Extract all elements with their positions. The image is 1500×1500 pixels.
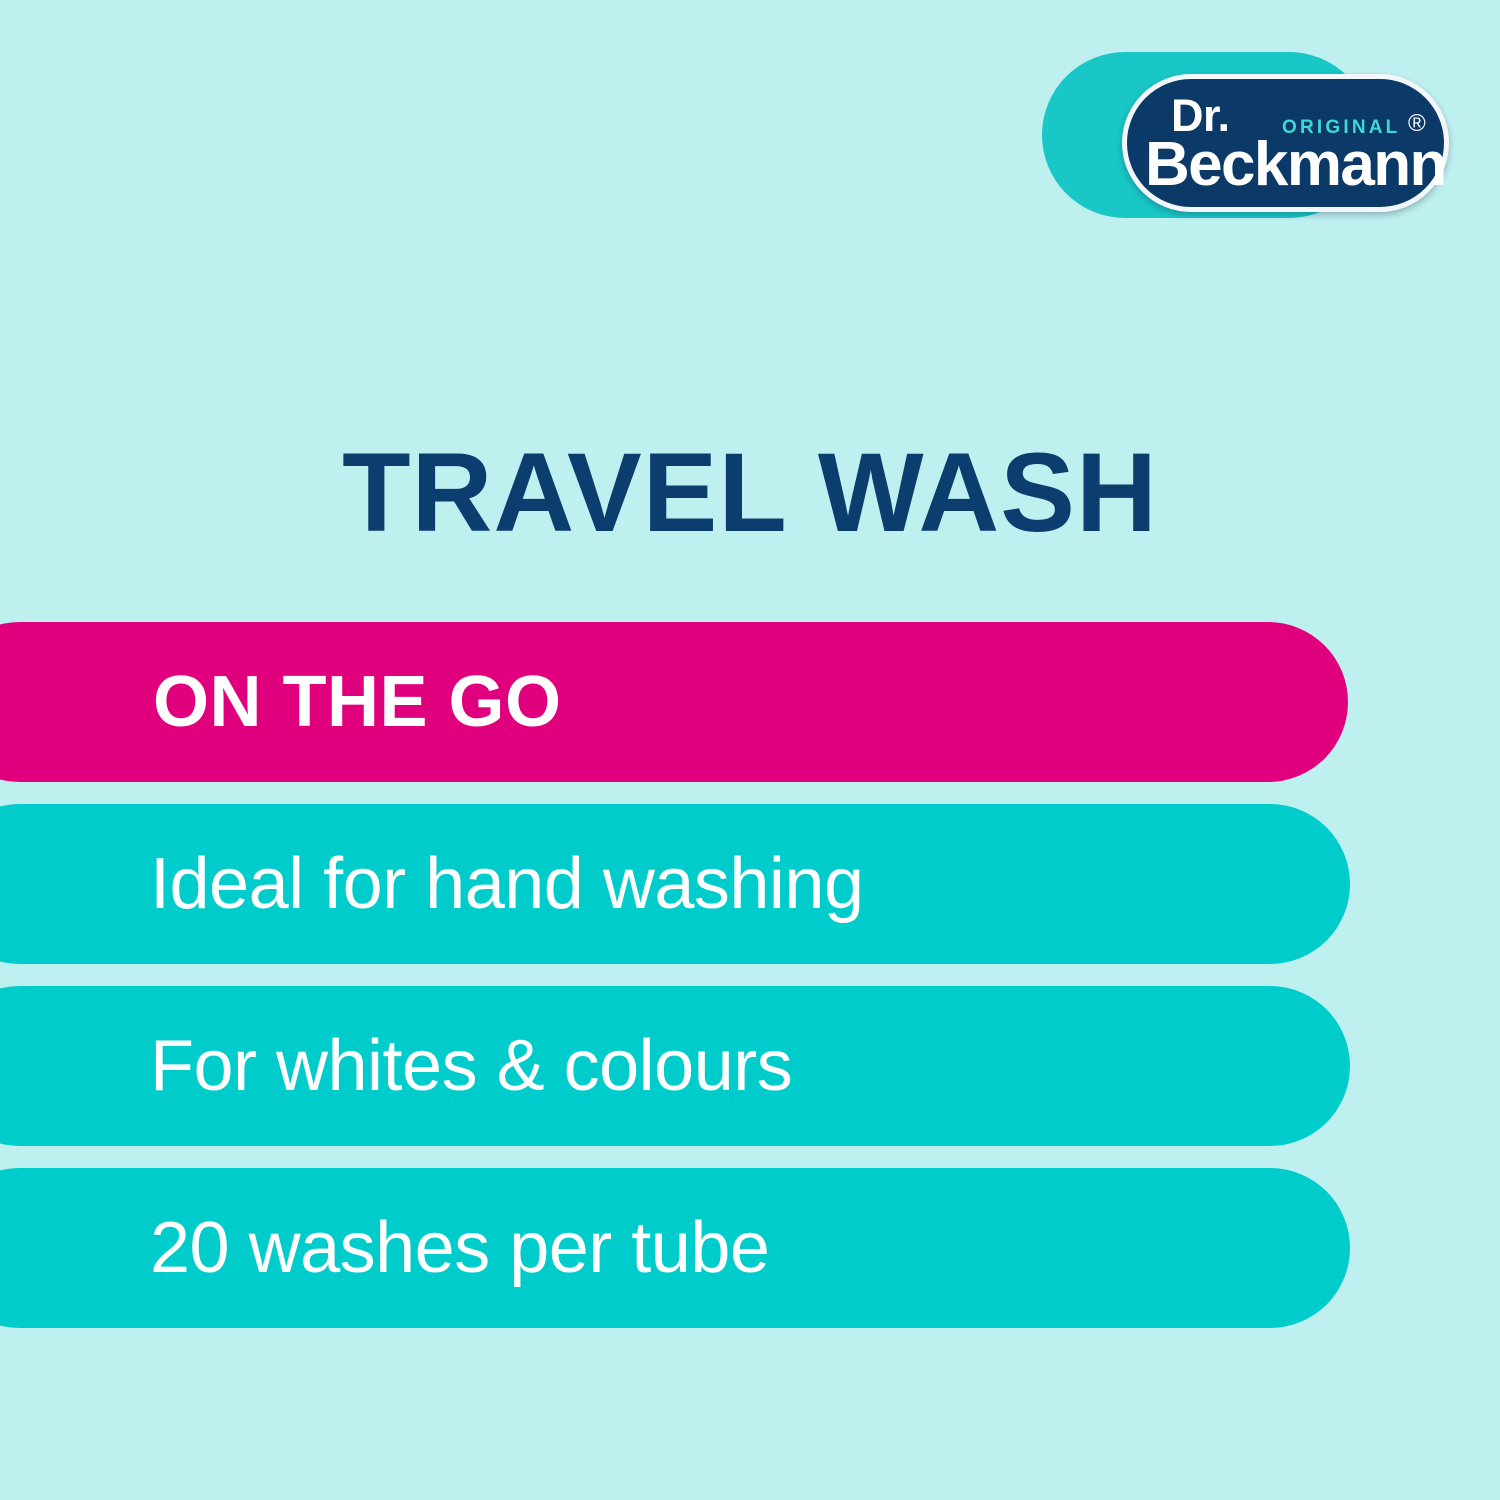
feature-bar-whites-and-colours: For whites & colours bbox=[0, 986, 1350, 1146]
feature-bar-washes-per-tube: 20 washes per tube bbox=[0, 1168, 1350, 1328]
logo-text-beckmann: Beckmann bbox=[1145, 134, 1446, 196]
brand-logo: Dr. ORIGINAL ® Beckmann bbox=[1042, 52, 1372, 218]
page-title: TRAVEL WASH bbox=[0, 437, 1500, 549]
product-feature-card: Dr. ORIGINAL ® Beckmann TRAVEL WASH ON T… bbox=[0, 0, 1500, 1500]
feature-bar-label: Ideal for hand washing bbox=[0, 843, 864, 925]
feature-bar-label: For whites & colours bbox=[0, 1025, 792, 1107]
feature-bar-hand-washing: Ideal for hand washing bbox=[0, 804, 1350, 964]
feature-bar-label: 20 washes per tube bbox=[0, 1207, 769, 1289]
feature-bar-label: ON THE GO bbox=[0, 661, 562, 743]
feature-bar-on-the-go: ON THE GO bbox=[0, 622, 1348, 782]
logo-pill-shape: Dr. ORIGINAL ® Beckmann bbox=[1122, 74, 1449, 212]
